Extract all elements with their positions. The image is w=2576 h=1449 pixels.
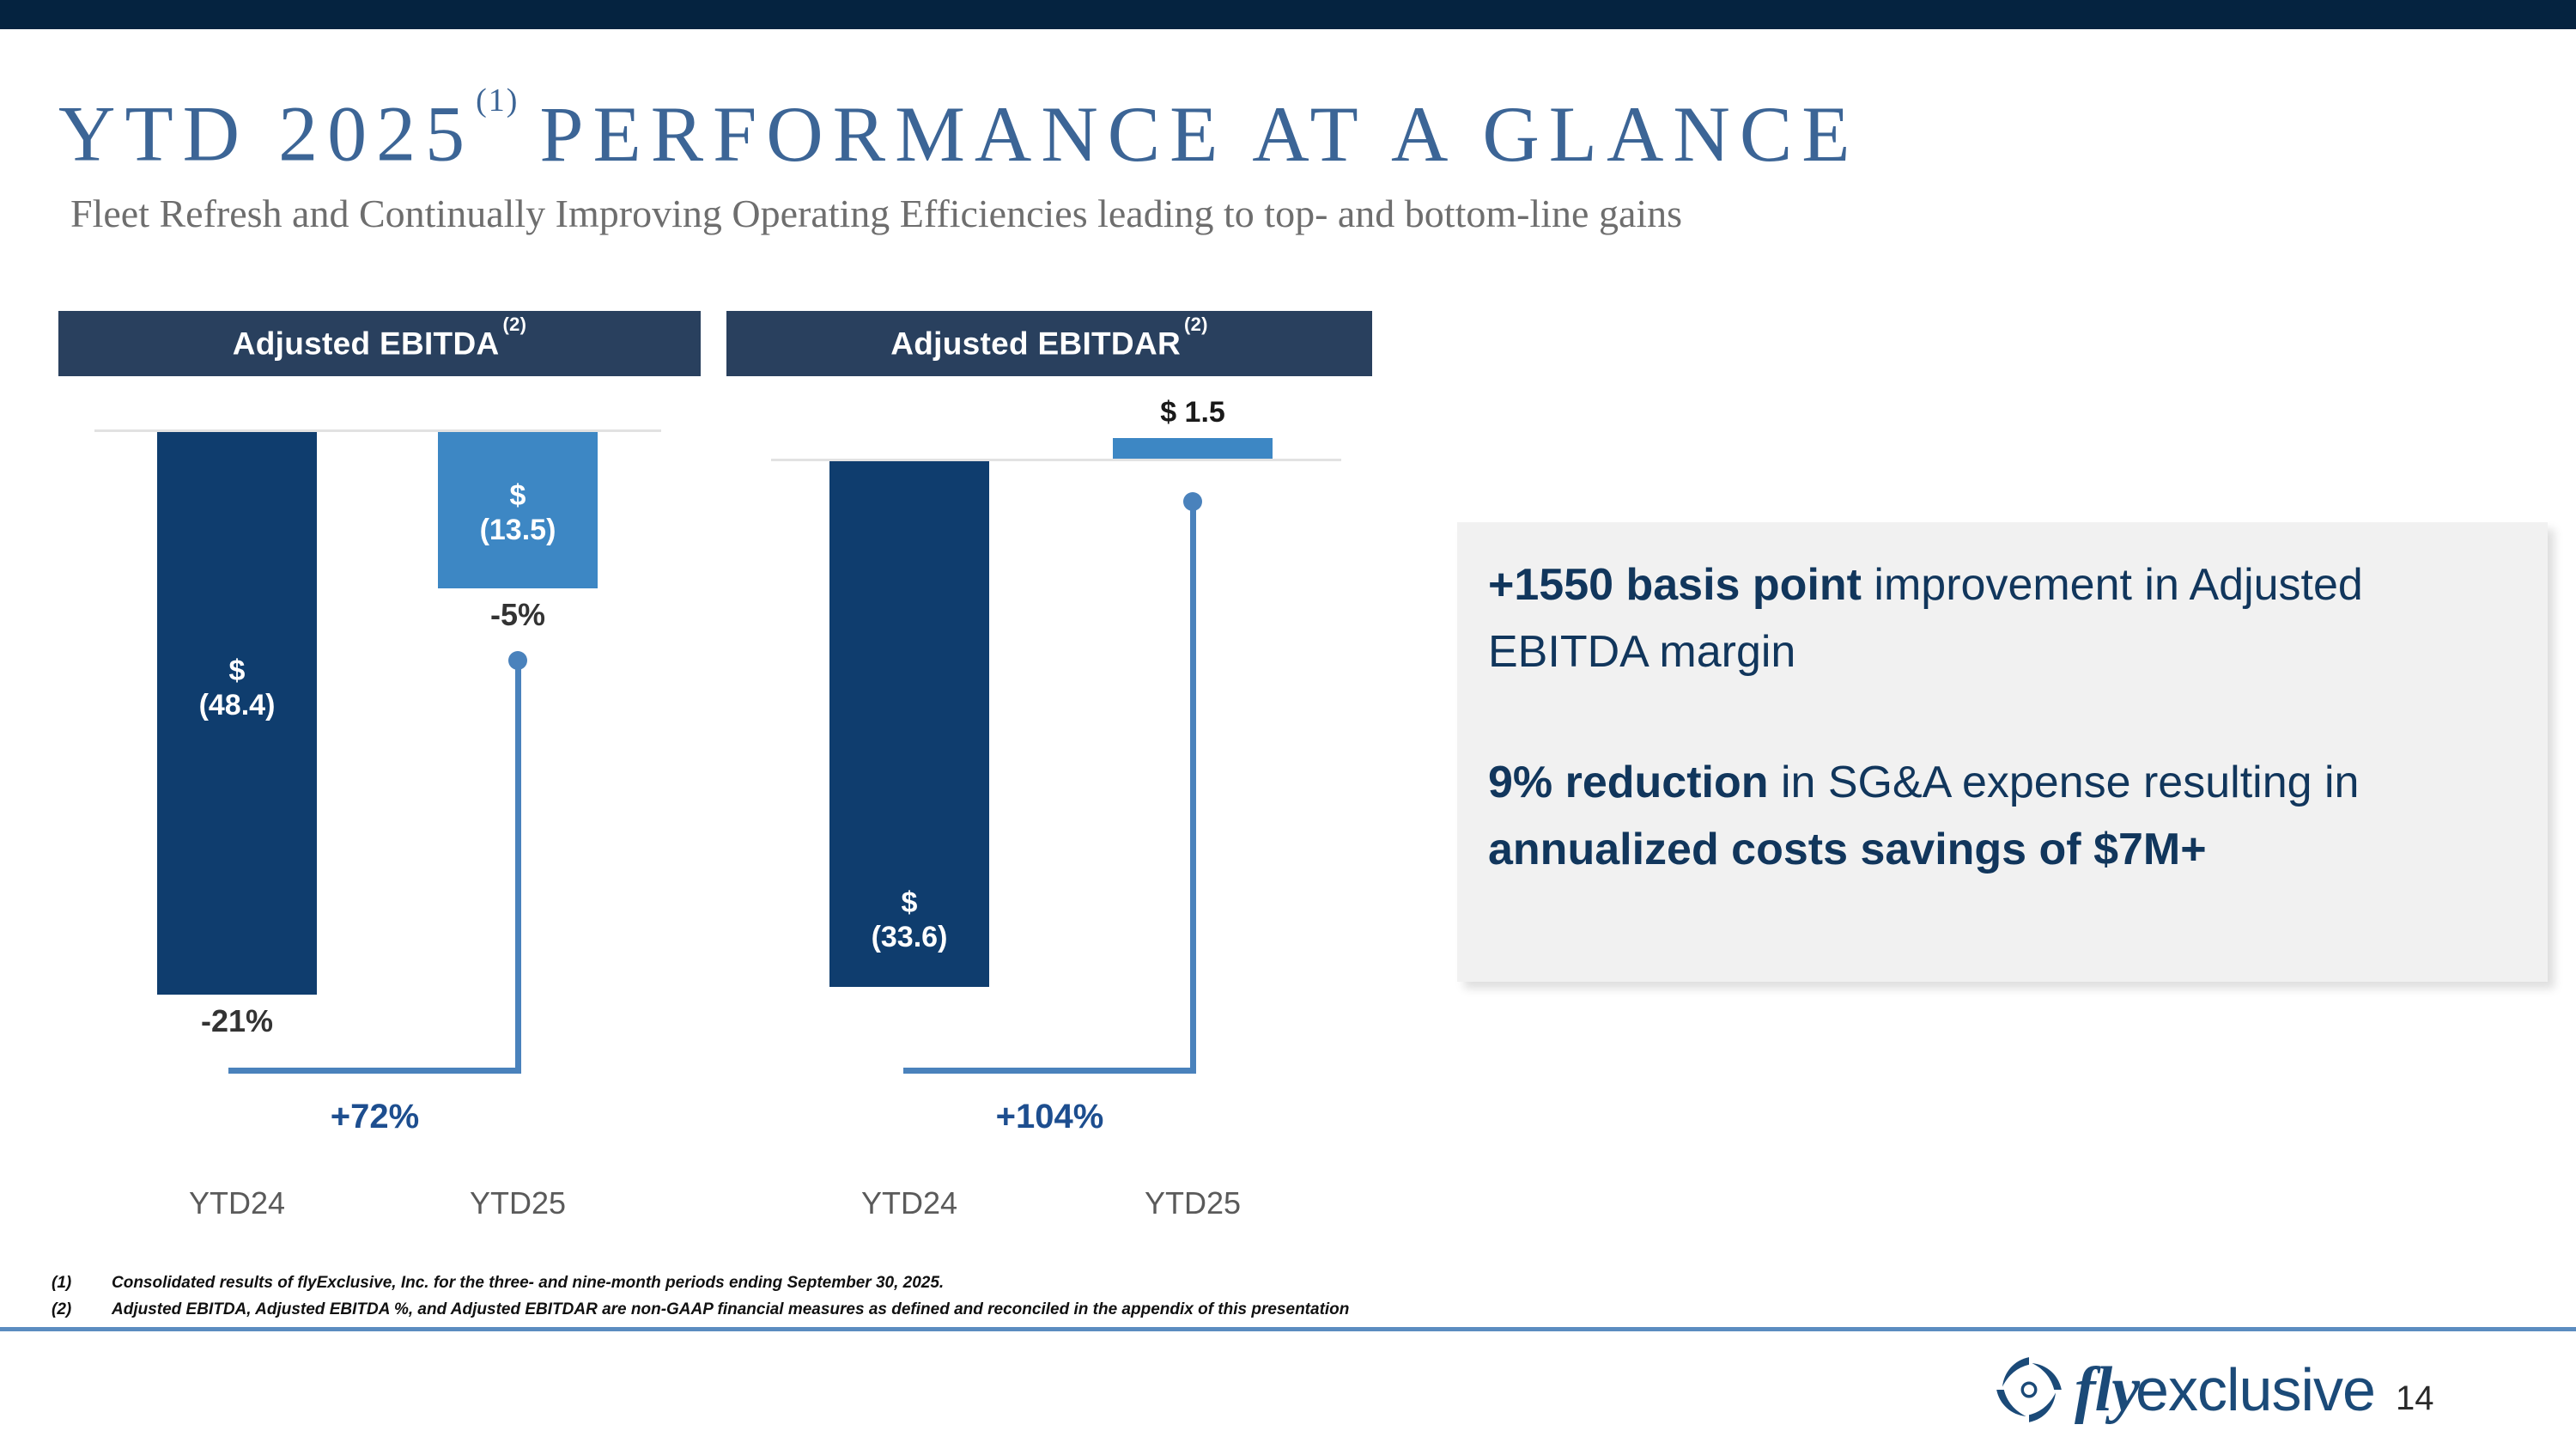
logo-fly-text: fly	[2075, 1358, 2139, 1422]
chart2-bar-ytd25	[1113, 438, 1273, 459]
footnote-1-number: (1)	[52, 1274, 112, 1293]
title-tail-text: PERFORMANCE AT A GLANCE	[539, 94, 1859, 174]
chart1-growth-label: +72%	[228, 1098, 521, 1136]
top-accent-bar	[0, 0, 2576, 29]
logo-exclusive-text: exclusive	[2136, 1358, 2375, 1422]
footnote-2-text: Adjusted EBITDA, Adjusted EBITDA %, and …	[112, 1300, 1349, 1319]
chart1-bar-ytd25-value-line1: $	[438, 478, 598, 513]
chart-header-adjusted-ebitdar: Adjusted EBITDAR(2)	[726, 311, 1372, 376]
chart-header-label: Adjusted EBITDA	[233, 326, 500, 361]
highlights-callout: +1550 basis point improvement in Adjuste…	[1457, 522, 2548, 982]
footnotes: (1) Consolidated results of flyExclusive…	[52, 1274, 1769, 1327]
chart2-category-ytd24: YTD24	[829, 1185, 989, 1221]
callout-line-2-bold-a: 9% reduction	[1488, 758, 1769, 807]
chart2-bar-ytd25-value-label: $ 1.5	[1113, 395, 1273, 429]
footer-logo: fly exclusive 14	[1992, 1353, 2433, 1427]
footnote-1-text: Consolidated results of flyExclusive, In…	[112, 1274, 944, 1293]
chart1-category-ytd24: YTD24	[157, 1185, 317, 1221]
chart2-bar-ytd24: $ (33.6)	[829, 461, 989, 987]
callout-line-1: +1550 basis point improvement in Adjuste…	[1488, 551, 2513, 685]
chart1-bar-ytd25-value-line2: (13.5)	[438, 513, 598, 547]
chart2-bar-ytd24-value-line2: (33.6)	[829, 920, 989, 954]
page-title: YTD 2025(1) PERFORMANCE AT A GLANCE	[58, 79, 2488, 174]
slide: YTD 2025(1) PERFORMANCE AT A GLANCE Flee…	[0, 0, 2576, 1449]
title-main-text: YTD 2025(1)	[58, 83, 517, 174]
page-number: 14	[2396, 1379, 2434, 1427]
chart2-growth-connector-horizontal	[903, 1068, 1196, 1074]
chart2-growth-connector-vertical	[1190, 501, 1196, 1074]
chart1-growth-connector-horizontal	[228, 1068, 521, 1074]
callout-line-1-bold: +1550 basis point	[1488, 560, 1862, 610]
chart1-bar-ytd25: $ (13.5)	[438, 432, 598, 588]
title-footnote-marker: (1)	[476, 82, 519, 119]
flyexclusive-swirl-icon	[1992, 1353, 2066, 1427]
page-subtitle: Fleet Refresh and Continually Improving …	[70, 191, 1682, 236]
chart1-bar-ytd25-margin-pct: -5%	[438, 597, 598, 633]
callout-line-2: 9% reduction in SG&A expense resulting i…	[1488, 749, 2513, 883]
chart1-category-ytd25: YTD25	[438, 1185, 598, 1221]
chart1-growth-connector-vertical	[515, 660, 521, 1074]
chart1-bar-ytd24: $ (48.4)	[157, 432, 317, 995]
chart-header-adjusted-ebitda: Adjusted EBITDA(2)	[58, 311, 701, 376]
callout-line-2-mid: in SG&A expense resulting in	[1769, 758, 2360, 807]
footer-divider	[0, 1327, 2576, 1331]
callout-line-2-bold-b: annualized costs savings of $7M+	[1488, 825, 2207, 874]
chart1-bar-ytd24-value-line2: (48.4)	[157, 688, 317, 722]
chart1-bar-ytd24-margin-pct: -21%	[157, 1003, 317, 1039]
chart2-bar-ytd24-value-line1: $	[829, 886, 989, 920]
footnote-row: (2) Adjusted EBITDA, Adjusted EBITDA %, …	[52, 1300, 1769, 1319]
footnote-row: (1) Consolidated results of flyExclusive…	[52, 1274, 1769, 1293]
chart-header-label: Adjusted EBITDAR	[890, 326, 1181, 361]
footnote-2-number: (2)	[52, 1300, 112, 1319]
chart-header-footnote-marker: (2)	[502, 314, 526, 335]
chart2-category-ytd25: YTD25	[1113, 1185, 1273, 1221]
chart-header-footnote-marker: (2)	[1184, 314, 1208, 335]
chart1-bar-ytd24-value-line1: $	[157, 654, 317, 688]
chart2-growth-label: +104%	[903, 1098, 1196, 1136]
